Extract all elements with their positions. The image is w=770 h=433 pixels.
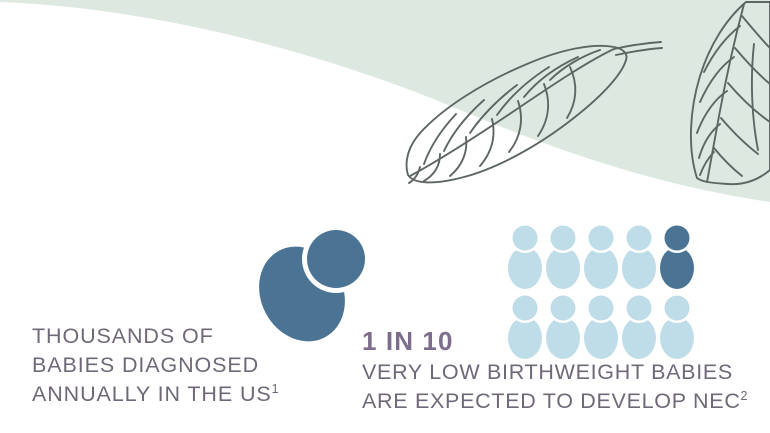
stat-right-line-2: ARE EXPECTED TO DEVELOP NEC2	[362, 387, 770, 416]
stat-right-line-2-text: ARE EXPECTED TO DEVELOP NEC	[362, 389, 741, 413]
leaf-left-icon	[407, 42, 662, 183]
leaf-right-icon	[691, 2, 770, 184]
stat-left-caption: THOUSANDS OF BABIES DIAGNOSED ANNUALLY I…	[32, 322, 332, 409]
baby-grid-row-1	[508, 224, 694, 289]
stat-left-line-2: BABIES DIAGNOSED	[32, 351, 332, 380]
stat-left-line-1: THOUSANDS OF	[32, 322, 332, 351]
stat-right-caption: 1 IN 10 VERY LOW BIRTHWEIGHT BABIES ARE …	[362, 326, 770, 415]
big-baby-head	[307, 230, 365, 288]
baby-icon-2	[546, 224, 580, 289]
stat-left-footnote-marker: 1	[272, 382, 280, 396]
green-curved-band	[0, 0, 770, 202]
stat-left-line-3-text: ANNUALLY IN THE US	[32, 382, 272, 406]
baby-icon-3	[584, 224, 618, 289]
stat-left-line-3: ANNUALLY IN THE US1	[32, 380, 332, 409]
stat-right-headline: 1 IN 10	[362, 326, 770, 356]
infographic-canvas: THOUSANDS OF BABIES DIAGNOSED ANNUALLY I…	[0, 0, 770, 433]
baby-icon-4	[622, 224, 656, 289]
stat-right-line-1: VERY LOW BIRTHWEIGHT BABIES	[362, 358, 770, 387]
baby-icon-5-highlighted	[660, 224, 694, 289]
baby-icon-1	[508, 224, 542, 289]
stat-right-footnote-marker: 2	[741, 388, 749, 402]
